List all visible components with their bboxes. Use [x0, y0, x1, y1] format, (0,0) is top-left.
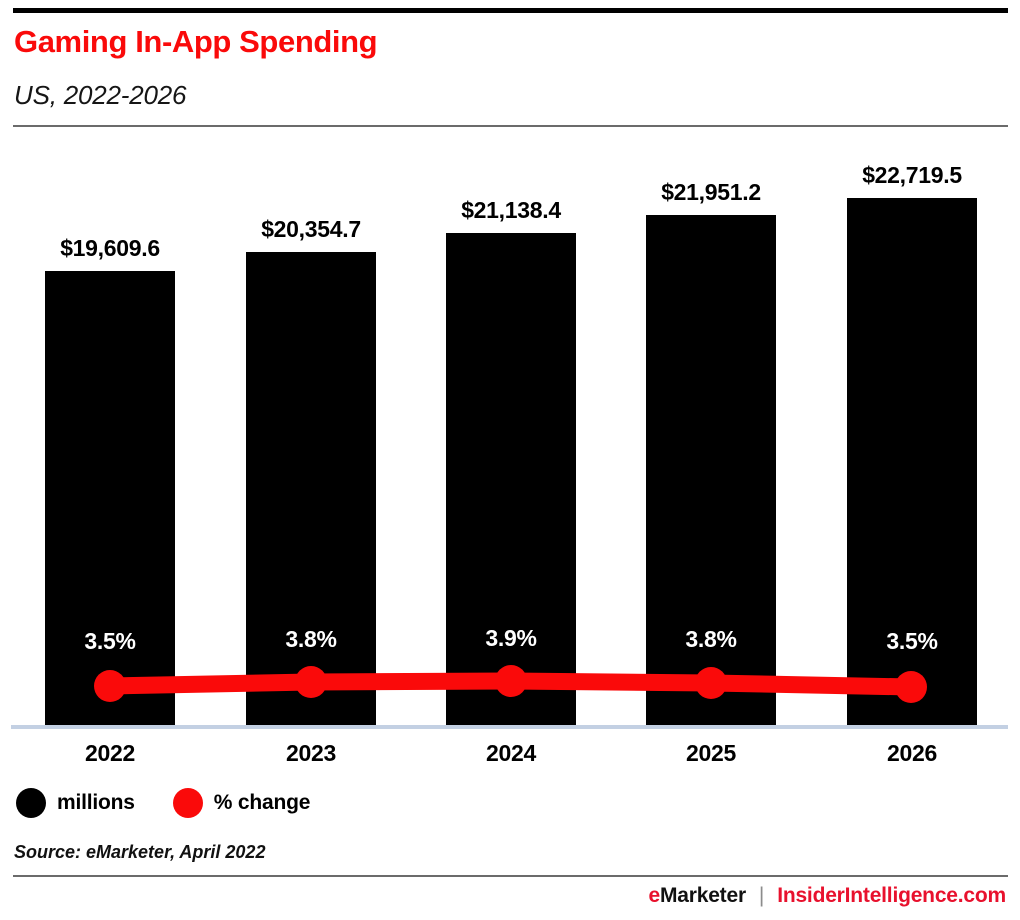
x-tick-2022: 2022	[20, 740, 200, 767]
bar-value-2025: $21,951.2	[621, 179, 801, 206]
bar-value-2023: $20,354.7	[221, 216, 401, 243]
x-axis-line	[11, 725, 1008, 729]
footer-branding: eMarketer | InsiderIntelligence.com	[648, 884, 1006, 908]
brand-accent-letter: e	[648, 884, 659, 907]
x-tick-2023: 2023	[221, 740, 401, 767]
pct-label-2026: 3.5%	[822, 628, 1002, 655]
chart-legend: millions % change	[16, 788, 310, 818]
circle-marker-icon	[16, 788, 46, 818]
bar-value-2022: $19,609.6	[20, 235, 200, 262]
bar-value-2024: $21,138.4	[421, 197, 601, 224]
source-note: Source: eMarketer, April 2022	[14, 842, 265, 863]
footer-divider	[13, 875, 1008, 877]
chart-page: Gaming In-App Spending US, 2022-2026 $19…	[0, 0, 1020, 920]
bar-2022	[45, 271, 175, 726]
legend-item-percent-change[interactable]: % change	[173, 788, 310, 818]
chart-plot-area: $19,609.6 $20,354.7 $21,138.4 $21,951.2 …	[0, 0, 1020, 920]
legend-label-millions: millions	[57, 791, 135, 815]
legend-label-percent-change: % change	[214, 791, 310, 815]
brand-name: Marketer	[660, 884, 746, 907]
bar-value-2026: $22,719.5	[822, 162, 1002, 189]
x-tick-2025: 2025	[621, 740, 801, 767]
x-tick-2024: 2024	[421, 740, 601, 767]
x-tick-2026: 2026	[822, 740, 1002, 767]
pct-label-2022: 3.5%	[20, 628, 200, 655]
pct-label-2024: 3.9%	[421, 625, 601, 652]
circle-marker-icon	[173, 788, 203, 818]
legend-item-millions[interactable]: millions	[16, 788, 135, 818]
bar-2023	[246, 252, 376, 726]
pct-label-2023: 3.8%	[221, 626, 401, 653]
footer-separator: |	[759, 884, 764, 908]
pct-label-2025: 3.8%	[621, 626, 801, 653]
emarketer-logo[interactable]: eMarketer	[648, 884, 745, 908]
bar-2024	[446, 233, 576, 726]
insider-intelligence-link[interactable]: InsiderIntelligence.com	[777, 884, 1006, 908]
